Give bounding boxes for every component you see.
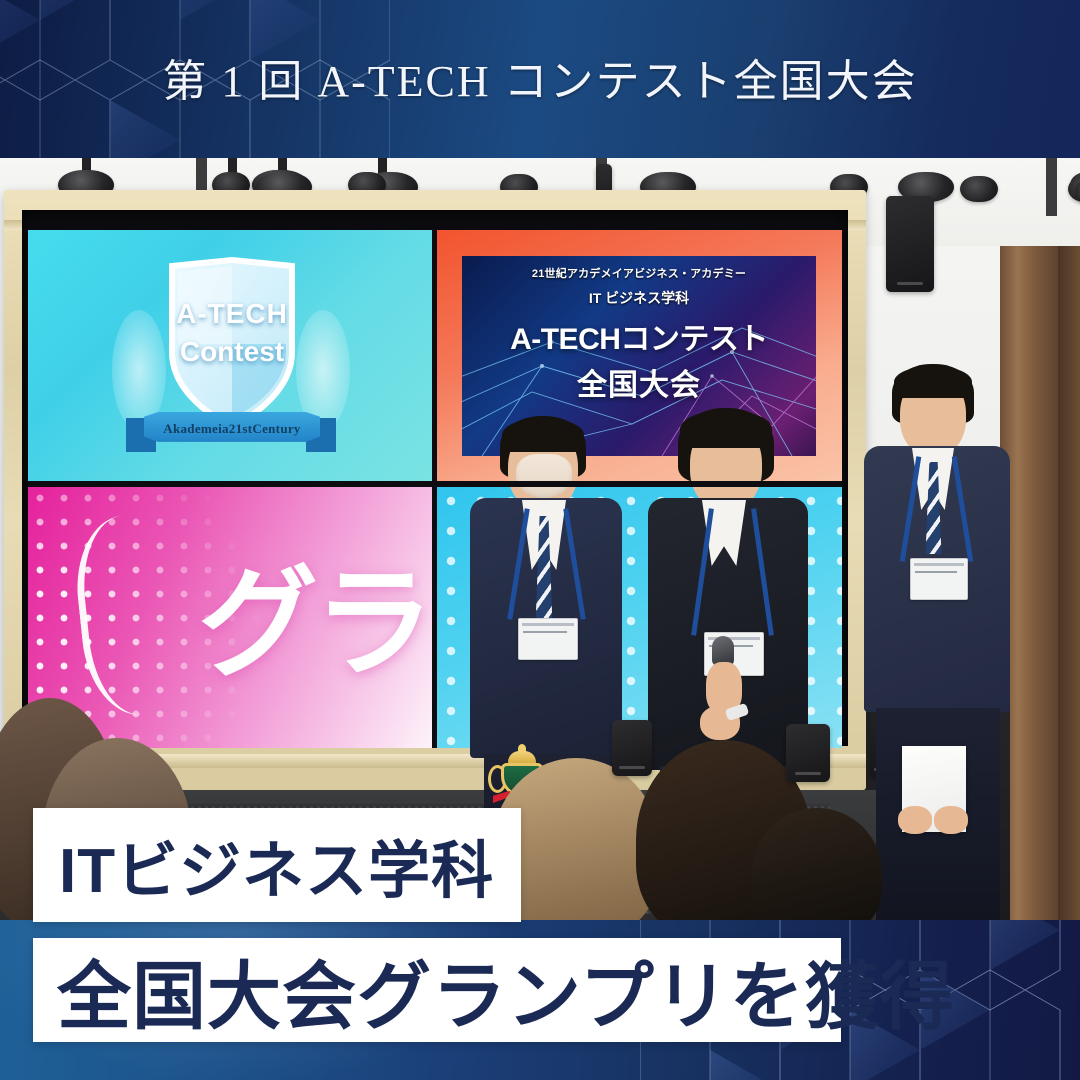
poster-canvas: 第 1 回 A-TECH コンテスト全国大会 <box>0 0 1080 1080</box>
event-photo: A-TECH Contest Akademeia21stCentury <box>0 158 1080 920</box>
screen-seam-horizontal <box>28 481 842 487</box>
name-badge <box>910 558 968 600</box>
shield-ribbon: Akademeia21stCentury <box>144 412 320 446</box>
shield-text: A-TECH Contest <box>162 298 302 368</box>
hand <box>934 806 968 834</box>
caption-text-award: 全国大会グランプリを獲得 <box>57 937 955 1044</box>
stage-light <box>960 176 998 202</box>
header-banner: 第 1 回 A-TECH コンテスト全国大会 <box>0 0 1080 158</box>
lighting-truss <box>1046 158 1057 216</box>
hand <box>898 806 932 834</box>
screen-panel-title: 21世紀アカデメイアビジネス・アカデミー IT ビジネス学科 A-TECHコンテ… <box>436 230 842 482</box>
hair-front <box>502 418 584 452</box>
camera-rig <box>612 720 652 776</box>
name-badge <box>518 618 578 660</box>
caption-box-award: 全国大会グランプリを獲得 <box>33 938 841 1042</box>
screen-panel-pink: グラ <box>28 486 432 748</box>
screen-seam-vertical <box>432 230 437 748</box>
title-slide-text: 21世紀アカデメイアビジネス・アカデミー IT ビジネス学科 A-TECHコンテ… <box>462 256 816 404</box>
caption-text-department: ITビジネス学科 <box>59 820 494 910</box>
hair-front <box>894 366 972 398</box>
hair-front <box>680 410 772 448</box>
atech-shield-logo: A-TECH Contest Akademeia21stCentury <box>116 252 346 467</box>
header-title: 第 1 回 A-TECH コンテスト全国大会 <box>0 0 1080 158</box>
pink-panel-text: グラ <box>198 526 430 700</box>
screen-panel-logo: A-TECH Contest Akademeia21stCentury <box>28 230 432 482</box>
wall-speaker <box>886 196 934 292</box>
door-frame-wood-outer <box>1058 158 1080 920</box>
camera-rig <box>786 724 830 782</box>
caption-box-department: ITビジネス学科 <box>33 808 521 922</box>
face-mask <box>516 454 572 498</box>
